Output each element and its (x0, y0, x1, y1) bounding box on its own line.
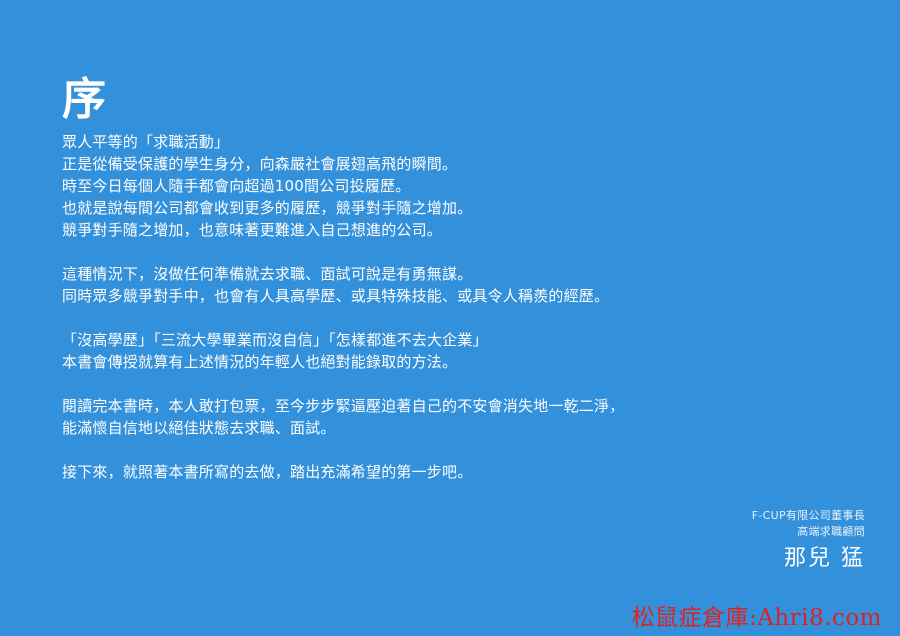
body-paragraph: 接下來，就照著本書所寫的去做，踏出充滿希望的第一步吧。 (62, 461, 852, 483)
body-line: 閱讀完本書時，本人敢打包票，至今步步緊逼壓迫著自己的不安會消失地一乾二淨， (62, 395, 852, 417)
body-paragraph: 「沒高學歷」「三流大學畢業而沒自信」「怎樣都進不去大企業」本書會傳授就算有上述情… (62, 329, 852, 373)
body-line: 「沒高學歷」「三流大學畢業而沒自信」「怎樣都進不去大企業」 (62, 329, 852, 351)
body-paragraph: 閱讀完本書時，本人敢打包票，至今步步緊逼壓迫著自己的不安會消失地一乾二淨，能滿懷… (62, 395, 852, 439)
signature-block: F-CUP有限公司董事長 高端求職顧問 那兒 猛 (565, 508, 865, 573)
body-line: 這種情況下，沒做任何準備就去求職、面試可說是有勇無謀。 (62, 263, 852, 285)
body-line: 同時眾多競爭對手中，也會有人具高學歷、或具特殊技能、或具令人稱羨的經歷。 (62, 285, 852, 307)
page-title: 序 (62, 75, 107, 125)
body-paragraph: 這種情況下，沒做任何準備就去求職、面試可說是有勇無謀。同時眾多競爭對手中，也會有… (62, 263, 852, 307)
body-line: 眾人平等的「求職活動」 (62, 131, 852, 153)
watermark-text: 松鼠症倉庫:Ahri8.com (631, 604, 882, 632)
body-line: 本書會傳授就算有上述情況的年輕人也絕對能錄取的方法。 (62, 351, 852, 373)
body-paragraph: 眾人平等的「求職活動」正是從備受保護的學生身分，向森嚴社會展翅高飛的瞬間。時至今… (62, 131, 852, 241)
signature-name: 那兒 猛 (565, 545, 865, 573)
body-line: 競爭對手隨之增加，也意味著更難進入自己想進的公司。 (62, 219, 852, 241)
body-copy: 眾人平等的「求職活動」正是從備受保護的學生身分，向森嚴社會展翅高飛的瞬間。時至今… (62, 131, 852, 483)
body-line: 能滿懷自信地以絕佳狀態去求職、面試。 (62, 417, 852, 439)
body-line: 接下來，就照著本書所寫的去做，踏出充滿希望的第一步吧。 (62, 461, 852, 483)
signature-role-line-1: F-CUP有限公司董事長 (565, 508, 865, 524)
body-line: 也就是說每間公司都會收到更多的履歷，競爭對手隨之增加。 (62, 197, 852, 219)
body-line: 時至今日每個人隨手都會向超過100間公司投履歷。 (62, 175, 852, 197)
body-line: 正是從備受保護的學生身分，向森嚴社會展翅高飛的瞬間。 (62, 153, 852, 175)
signature-role-line-2: 高端求職顧問 (565, 524, 865, 540)
preface-page: 序 眾人平等的「求職活動」正是從備受保護的學生身分，向森嚴社會展翅高飛的瞬間。時… (0, 0, 900, 636)
